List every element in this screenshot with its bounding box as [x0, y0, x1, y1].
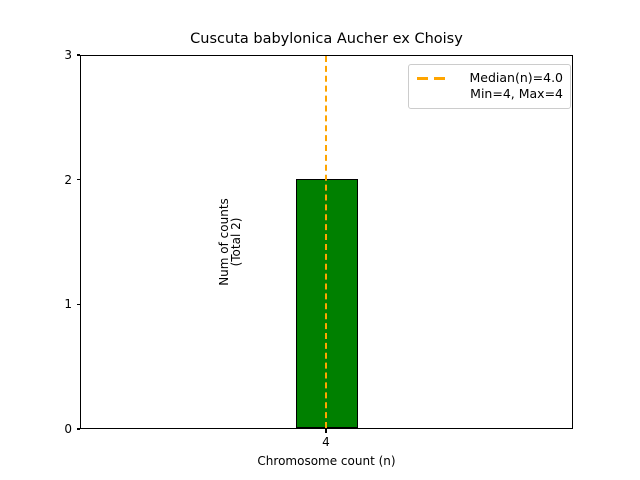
- ytick-mark-3: [77, 54, 81, 55]
- bar-chromosome-count-4: [296, 179, 358, 428]
- chart-legend: Median(n)=4.0 Min=4, Max=4: [408, 64, 571, 109]
- chart-title: Cuscuta babylonica Aucher ex Choisy: [80, 30, 573, 48]
- legend-entry-median: Median(n)=4.0: [416, 70, 563, 86]
- ytick-mark-2: [77, 179, 81, 180]
- legend-entry-minmax: Min=4, Max=4: [416, 86, 563, 102]
- y-axis-label-line-2: (Total 2): [228, 55, 244, 429]
- dashed-line-icon: [416, 72, 449, 84]
- plot-area: [80, 55, 573, 429]
- ytick-mark-1: [77, 304, 81, 305]
- x-axis-label: Chromosome count (n): [80, 453, 573, 469]
- legend-label-median: Median(n)=4.0: [456, 70, 563, 86]
- xtick-mark-4: [325, 429, 326, 433]
- y-axis-label: Num of counts (Total 2): [0, 55, 74, 429]
- chart-figure: Cuscuta babylonica Aucher ex Choisy 3 2 …: [0, 0, 640, 480]
- median-line: [325, 56, 327, 428]
- legend-label-minmax: Min=4, Max=4: [456, 86, 563, 102]
- xtick-label-4: 4: [286, 434, 366, 450]
- ytick-mark-0: [77, 428, 81, 429]
